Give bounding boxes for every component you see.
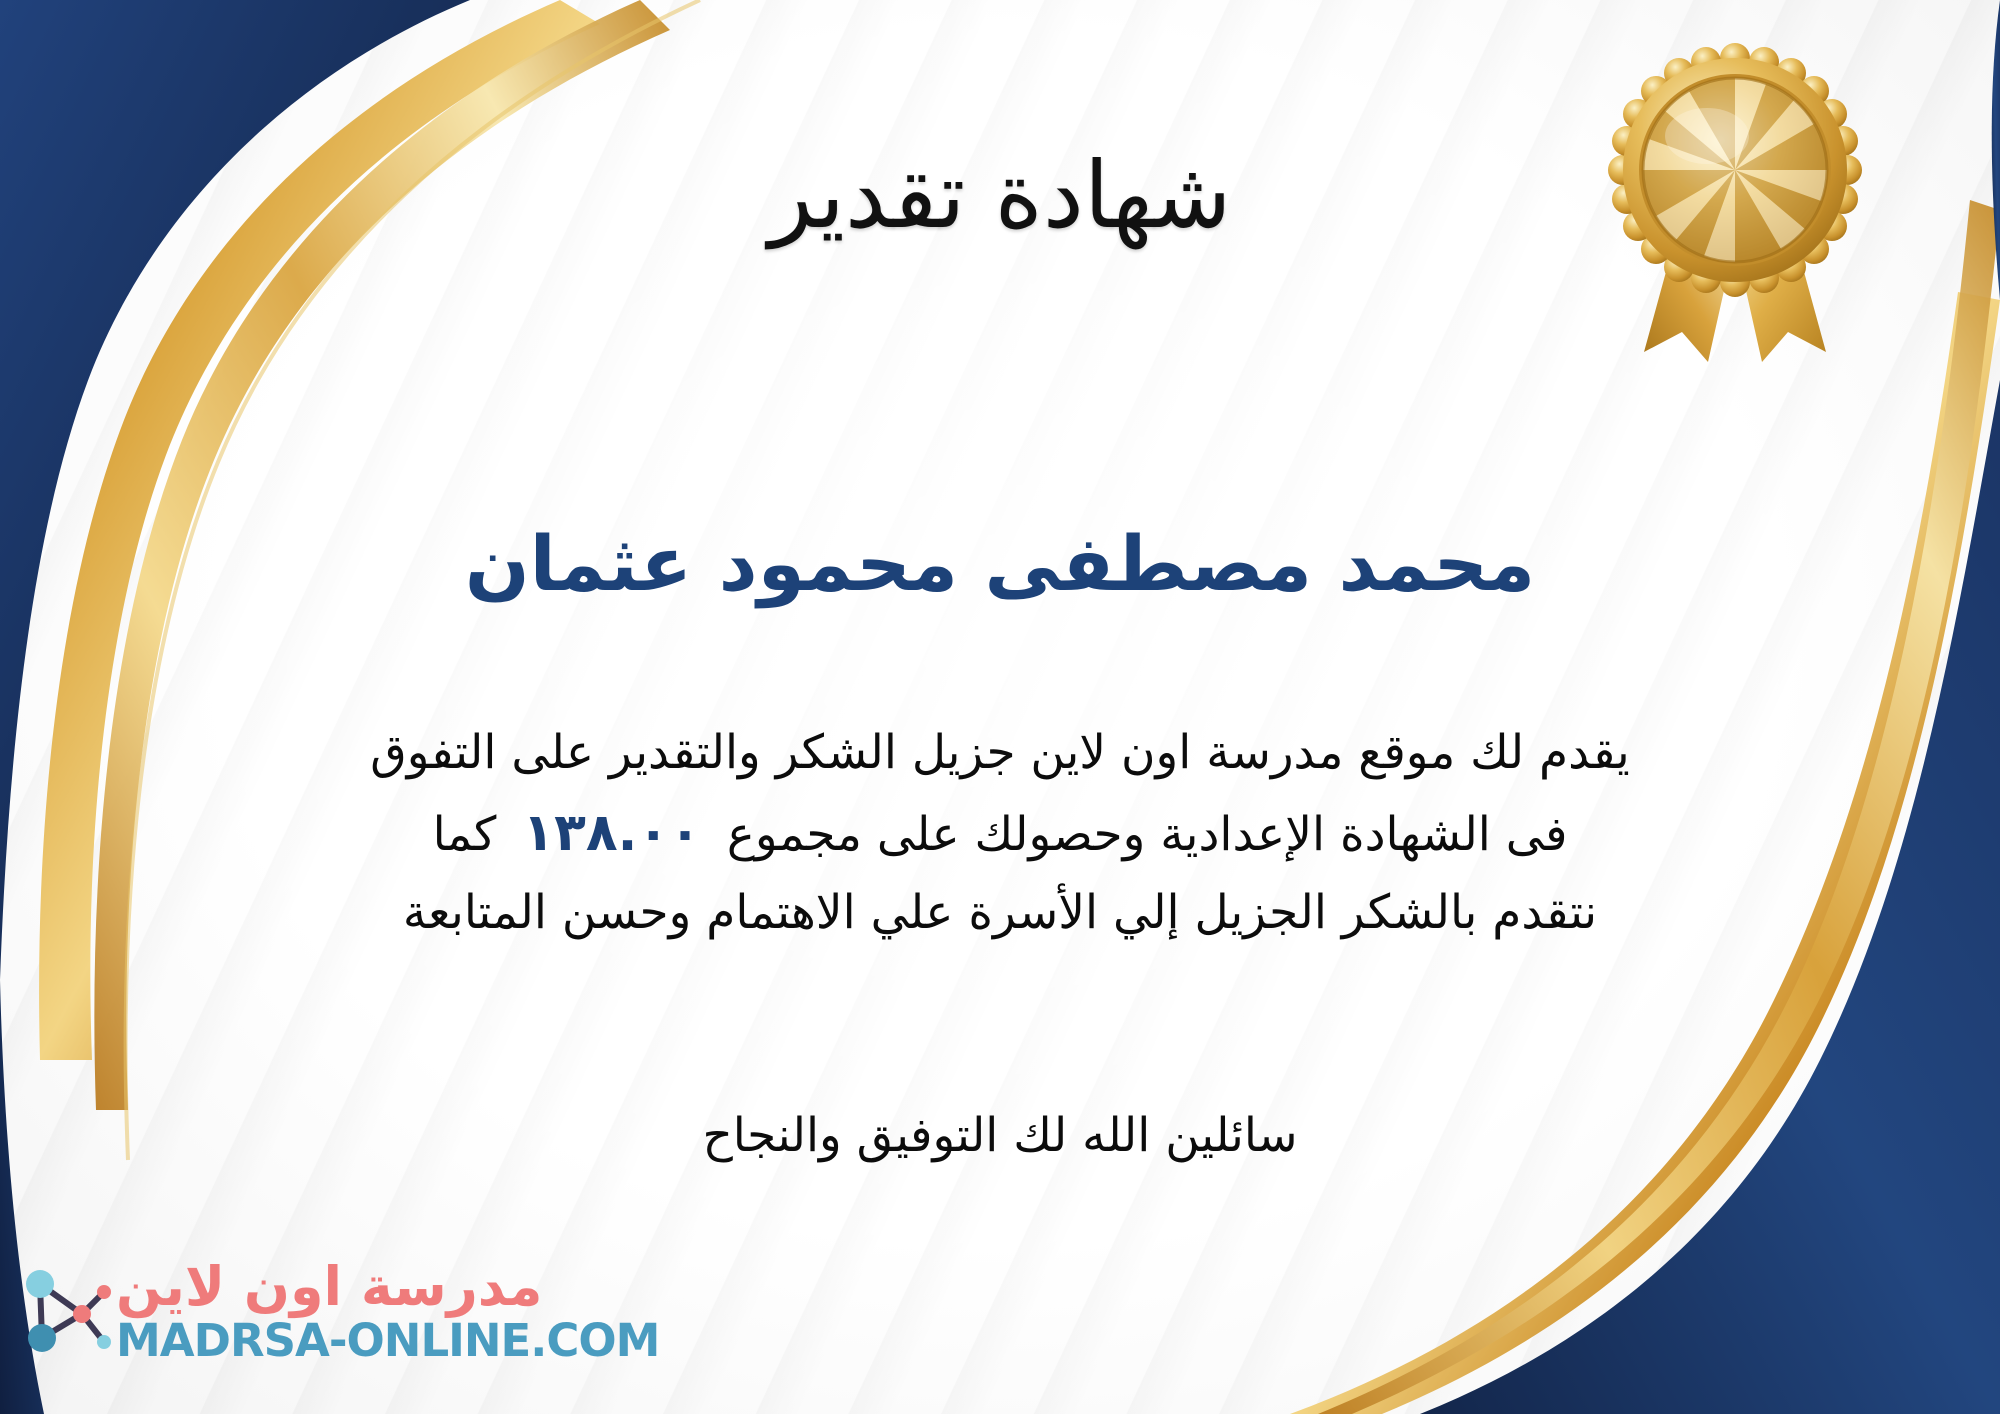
recipient-name: محمد مصطفى محمود عثمان <box>0 520 2000 607</box>
closing-statement: سائلين الله لك التوفيق والنجاح <box>0 1108 2000 1163</box>
certificate-canvas: شهادة تقدير محمد مصطفى محمود عثمان يقدم … <box>0 0 2000 1414</box>
body-line-2-suffix: كما <box>433 807 497 862</box>
brand-wordmark: مدرسة اون لاين MADRSA-ONLINE.COM <box>116 1260 659 1363</box>
body-line-2-prefix: فى الشهادة الإعدادية وحصولك على مجموع <box>727 807 1568 862</box>
brand-url: MADRSA-ONLINE.COM <box>116 1318 659 1363</box>
brand-logo[interactable]: مدرسة اون لاين MADRSA-ONLINE.COM <box>20 1236 480 1386</box>
body-line-2: فى الشهادة الإعدادية وحصولك على مجموع١٣٨… <box>40 791 1960 875</box>
body-line-1: يقدم لك موقع مدرسة اون لاين جزيل الشكر و… <box>40 715 1960 791</box>
certificate-body: يقدم لك موقع مدرسة اون لاين جزيل الشكر و… <box>40 715 1960 951</box>
grade-value: ١٣٨.٠٠ <box>496 803 726 863</box>
certificate-title: شهادة تقدير <box>0 148 2000 245</box>
body-line-3: نتقدم بالشكر الجزيل إلي الأسرة علي الاهت… <box>40 875 1960 951</box>
brand-arabic-name: مدرسة اون لاين <box>116 1260 542 1314</box>
network-nodes-icon <box>20 1262 112 1360</box>
